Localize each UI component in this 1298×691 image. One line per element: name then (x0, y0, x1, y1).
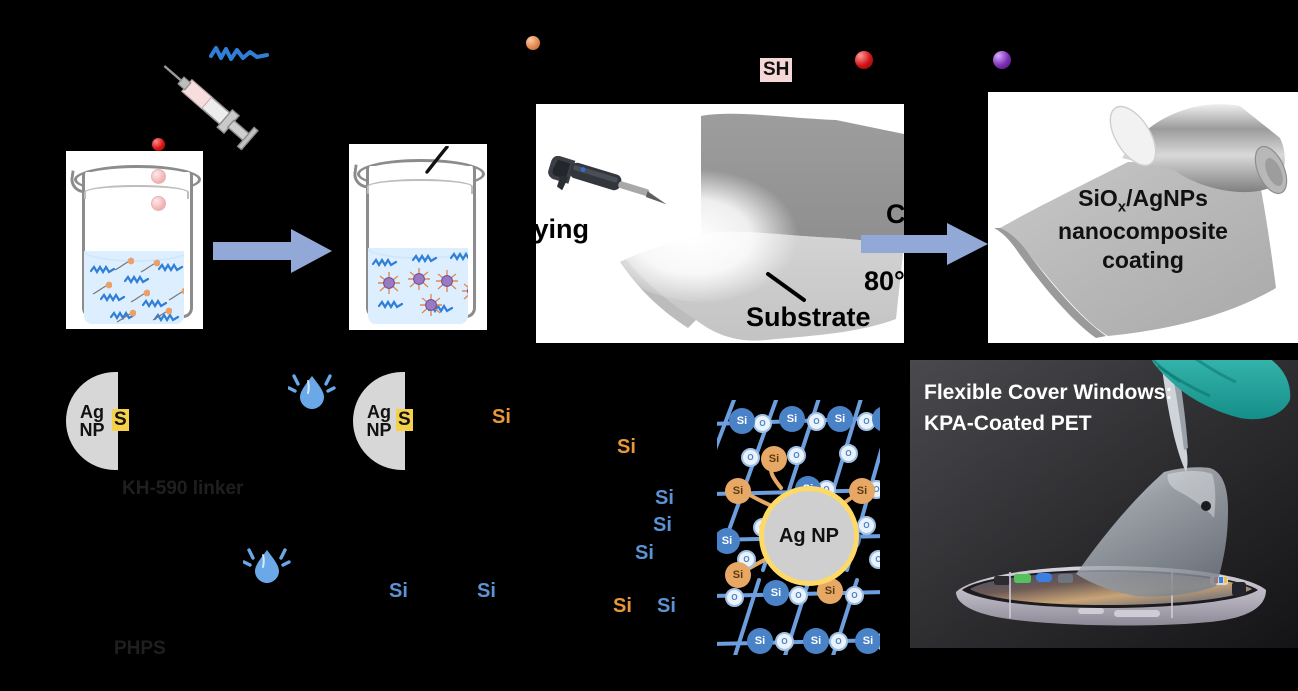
lattice-o-node: O (741, 448, 760, 467)
coating-title-agnps: /AgNPs (1126, 185, 1208, 211)
si-label-blue-6: Si (657, 595, 676, 618)
lattice-si-node: Si (763, 580, 789, 606)
lattice-agnp-core: Ag NP (759, 486, 859, 586)
lattice-o-node: O (807, 412, 826, 431)
lattice-o-node: O (775, 632, 794, 651)
lattice-o-node: O (787, 446, 806, 465)
flexible-cover-window-photo: Flexible Cover Windows: KPA-Coated PET (910, 360, 1298, 648)
lattice-si-node: Si (803, 628, 829, 654)
lattice-si-linker-node: Si (725, 478, 751, 504)
water-drop-icon-1 (288, 366, 336, 417)
lattice-si-node: Si (779, 406, 805, 432)
droplet-icon (152, 138, 165, 151)
beaker-agnp-dispersion (349, 144, 487, 330)
process-arrow-1 (213, 228, 333, 274)
spraying-label: raying (536, 214, 589, 245)
sulfur-label-left: S (112, 409, 129, 431)
sphere-red-icon (855, 51, 873, 69)
agnp-left-line1: Ag (80, 403, 104, 421)
beaker-phps-solution (66, 151, 203, 329)
thiol-sh-label: SH (760, 58, 792, 82)
lattice-si-linker-node: Si (761, 446, 787, 472)
lattice-si-linker-node: Si (849, 478, 875, 504)
photo-caption-line1: Flexible Cover Windows: (924, 381, 1172, 405)
lattice-agnp-label-1: Ag (779, 525, 806, 548)
agnp-right-line1: Ag (367, 403, 391, 421)
lattice-o-node: O (845, 586, 864, 605)
coating-title: SiOx/AgNPs nanocomposite coating (988, 184, 1298, 275)
water-drop-icon-2 (243, 540, 291, 591)
kh590-linker-caption: KH-590 linker (122, 478, 243, 500)
siox-agnp-lattice: O O O O O O O O O O O O O O O O O O O O … (717, 400, 880, 655)
sulfur-label-right: S (396, 409, 413, 431)
lattice-o-node: O (725, 588, 744, 607)
sphere-orange-icon (526, 36, 540, 50)
lattice-agnp-label-2: NP (811, 525, 839, 548)
lattice-o-node: O (753, 414, 772, 433)
nanocomposite-coating-panel: SiOx/AgNPs nanocomposite coating (988, 92, 1298, 343)
functionalized-agnp (376, 270, 402, 296)
phps-caption: PHPS (114, 638, 166, 660)
lattice-o-node: O (789, 586, 808, 605)
agnp-left-line2: NP (79, 421, 104, 439)
coating-title-siox: SiO (1078, 185, 1118, 211)
coating-title-sub: x (1118, 199, 1126, 216)
lattice-o-node: O (829, 632, 848, 651)
si-label-blue-5: Si (477, 580, 496, 603)
lattice-si-node: Si (827, 406, 853, 432)
si-label-orange-3: Si (613, 595, 632, 618)
agnp-half-left: Ag NP (66, 372, 118, 470)
lattice-si-linker-node: Si (725, 562, 751, 588)
si-label-orange-1: Si (492, 406, 511, 429)
lattice-o-node: O (839, 444, 858, 463)
coating-title-line3: coating (988, 246, 1298, 275)
substrate-label: Substrate (746, 302, 871, 333)
syringe-icon (150, 60, 270, 150)
temperature-label: 80°C (864, 266, 904, 297)
si-label-blue-1: Si (655, 487, 674, 510)
si-label-blue-2: Si (653, 514, 672, 537)
sphere-purple-icon (993, 51, 1011, 69)
lattice-si-node: Si (729, 408, 755, 434)
stir-rod-icon (415, 146, 451, 179)
lattice-o-node: O (857, 516, 876, 535)
coating-title-line2: nanocomposite (988, 217, 1298, 246)
si-label-blue-3: Si (635, 542, 654, 565)
si-label-blue-4: Si (389, 580, 408, 603)
lattice-si-node: Si (747, 628, 773, 654)
lattice-si-node: Si (855, 628, 880, 654)
photo-caption-line2: KPA-Coated PET (924, 412, 1092, 436)
figure-canvas: SH (0, 0, 1298, 691)
process-arrow-2 (861, 222, 989, 266)
agnp-right-line2: NP (366, 421, 391, 439)
si-label-orange-2: Si (617, 436, 636, 459)
spray-coating-panel: raying Substrate Cu 80°C (536, 104, 904, 343)
